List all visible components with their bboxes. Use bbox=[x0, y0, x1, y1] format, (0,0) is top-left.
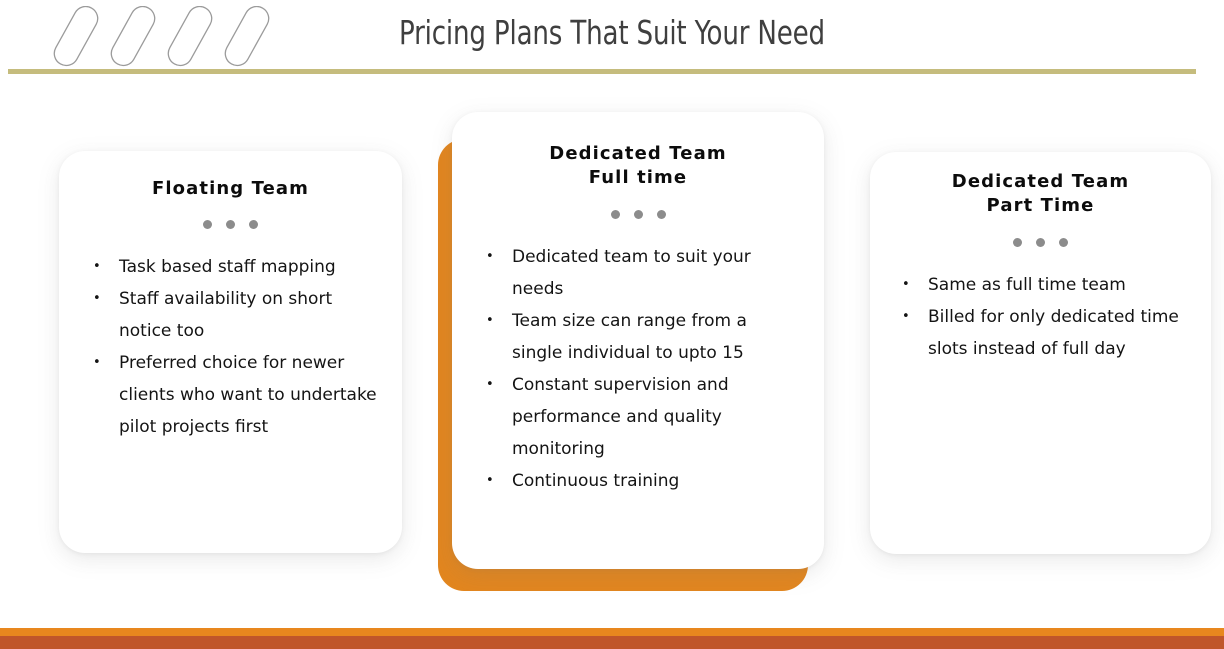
card-title-line-1: Dedicated Team bbox=[892, 170, 1189, 194]
pricing-card-dedicated-team-full-time[interactable]: Dedicated Team Full time Dedicated team … bbox=[452, 112, 824, 569]
card-title-line-1: Dedicated Team bbox=[478, 142, 798, 166]
dot-icon bbox=[1013, 238, 1022, 247]
card-title-floating-team: Floating Team bbox=[83, 177, 378, 201]
three-dots-separator-icon bbox=[83, 220, 378, 229]
list-item: Staff availability on short notice too bbox=[83, 283, 378, 347]
dot-icon bbox=[203, 220, 212, 229]
list-item: Constant supervision and performance and… bbox=[478, 369, 798, 465]
list-item: Continuous training bbox=[478, 465, 798, 497]
list-item: Preferred choice for newer clients who w… bbox=[83, 347, 378, 443]
dot-icon bbox=[226, 220, 235, 229]
card-title-dedicated-team-part-time: Dedicated Team Part Time bbox=[892, 170, 1189, 219]
list-item: Same as full time team bbox=[892, 269, 1189, 301]
feature-list-floating-team: Task based staff mapping Staff availabil… bbox=[83, 251, 378, 443]
footer-bar-light bbox=[0, 628, 1224, 636]
dot-icon bbox=[1036, 238, 1045, 247]
dot-icon bbox=[1059, 238, 1068, 247]
list-item: Dedicated team to suit your needs bbox=[478, 241, 798, 305]
list-item: Billed for only dedicated time slots ins… bbox=[892, 301, 1189, 365]
three-dots-separator-icon bbox=[892, 238, 1189, 247]
card-title-line-2: Part Time bbox=[892, 194, 1189, 218]
feature-list-dedicated-team-full-time: Dedicated team to suit your needs Team s… bbox=[478, 241, 798, 497]
dot-icon bbox=[657, 210, 666, 219]
list-item: Team size can range from a single indivi… bbox=[478, 305, 798, 369]
pricing-card-floating-team[interactable]: Floating Team Task based staff mapping S… bbox=[59, 151, 402, 553]
dot-icon bbox=[611, 210, 620, 219]
card-title-line-2: Full time bbox=[478, 166, 798, 190]
three-dots-separator-icon bbox=[478, 210, 798, 219]
pricing-cards-area: Floating Team Task based staff mapping S… bbox=[0, 0, 1224, 649]
list-item: Task based staff mapping bbox=[83, 251, 378, 283]
footer-bar-dark bbox=[0, 636, 1224, 649]
dot-icon bbox=[249, 220, 258, 229]
pricing-card-dedicated-team-part-time[interactable]: Dedicated Team Part Time Same as full ti… bbox=[870, 152, 1211, 554]
dot-icon bbox=[634, 210, 643, 219]
card-title-dedicated-team-full-time: Dedicated Team Full time bbox=[478, 142, 798, 191]
feature-list-dedicated-team-part-time: Same as full time team Billed for only d… bbox=[892, 269, 1189, 365]
